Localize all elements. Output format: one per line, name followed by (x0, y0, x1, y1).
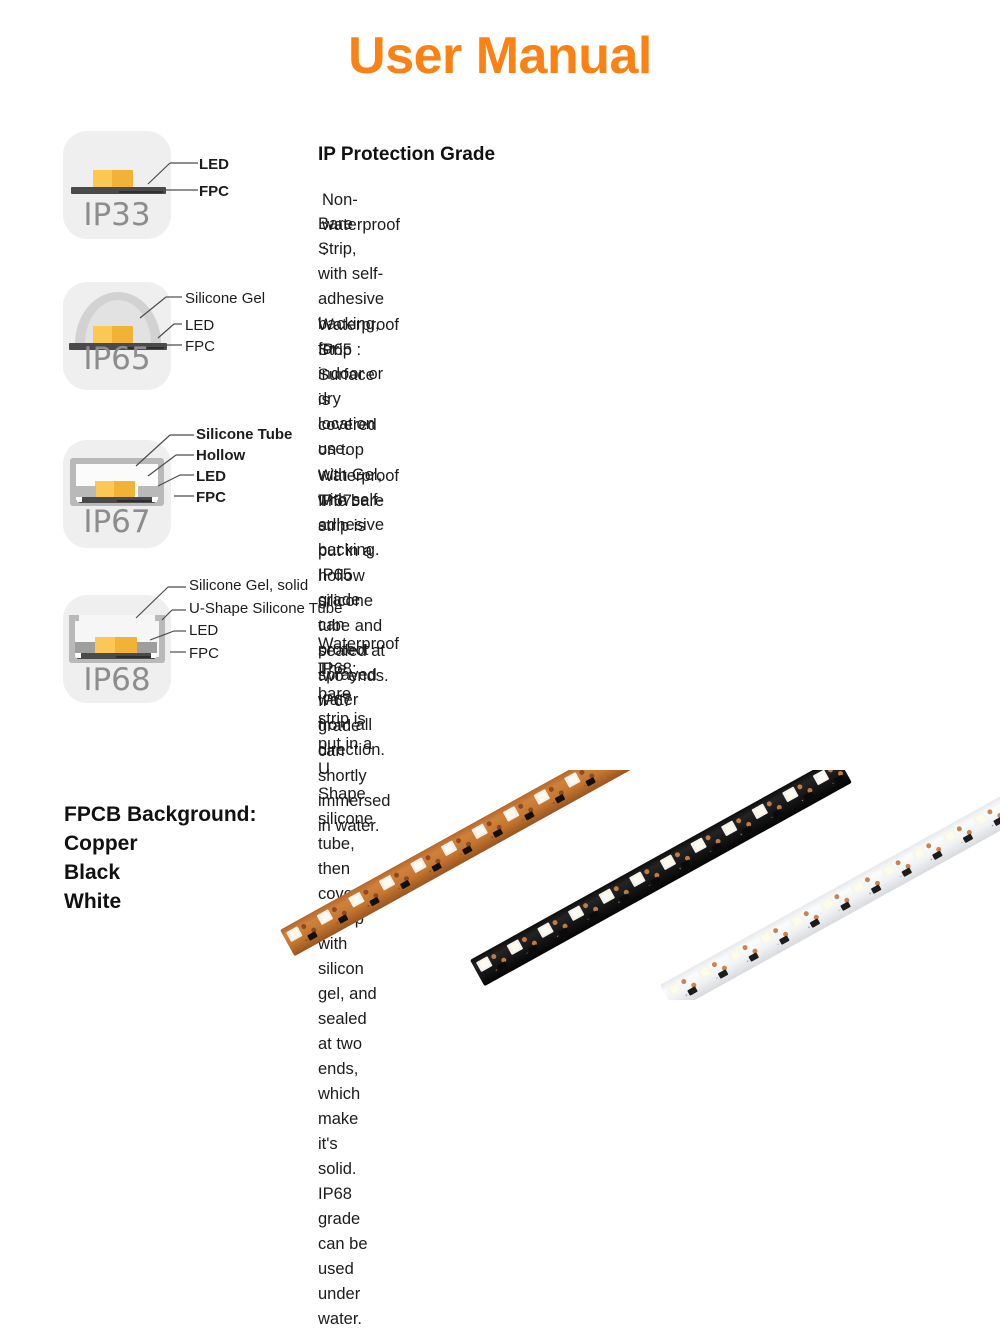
solder-pad (674, 851, 681, 858)
fpcb-option-copper: Copper (64, 829, 257, 858)
resistor (524, 811, 535, 821)
solder-pad (895, 859, 902, 866)
led-phosphor (413, 860, 423, 870)
solder-pad (582, 902, 589, 909)
resistor (528, 944, 539, 954)
solder-pad (424, 855, 431, 862)
resistor (307, 931, 318, 941)
led-chip (317, 909, 334, 925)
led-chip (564, 772, 581, 788)
ip68-callout-u-shape-silicone-tube: U-Shape Silicone Tube (189, 601, 342, 616)
solder-pad (742, 944, 749, 951)
led-chip (788, 913, 805, 929)
led-chip (666, 981, 683, 997)
ip33-code-label: IP33 (63, 197, 171, 233)
section-heading-ip-protection-grade: IP Protection Grade (318, 144, 495, 166)
ip68-callout-led: LED (189, 623, 218, 638)
led-chip (690, 837, 707, 853)
led-phosphor (351, 895, 361, 905)
resistor (748, 952, 759, 962)
resistor (773, 808, 784, 818)
led-strip-white: +−+−+−+−+−+− (660, 781, 1000, 1000)
ip68-tube-end-left (75, 642, 95, 653)
led-chip (595, 770, 612, 771)
solder-pad (490, 953, 497, 960)
led-phosphor (382, 878, 392, 888)
led-chip (782, 786, 799, 802)
resistor (840, 901, 851, 911)
led-chip (751, 803, 768, 819)
led-phosphor (914, 848, 924, 858)
ip68-tube-lip-left (69, 615, 79, 621)
led-phosphor (700, 967, 710, 977)
resistor (810, 918, 821, 928)
solder-pad (486, 820, 493, 827)
led-phosphor (883, 865, 893, 875)
solder-pad (987, 808, 994, 815)
resistor (497, 961, 508, 971)
polarity-mark: + (366, 904, 370, 909)
led-phosphor (761, 933, 771, 943)
led-chip (819, 896, 836, 912)
ip67-leader-lines (118, 428, 208, 508)
ip33-callout-led: LED (199, 157, 229, 172)
led-chip (972, 811, 989, 827)
led-chip (758, 930, 775, 946)
resistor (431, 863, 442, 873)
ip67-seal-left (77, 497, 82, 502)
led-strip-copper: +−+−+−+−+−+−+ (280, 770, 697, 956)
solder-pad (705, 834, 712, 841)
led-chip (598, 888, 615, 904)
solder-pad (548, 786, 555, 793)
polarity-mark: − (521, 818, 525, 823)
solder-pad (643, 868, 650, 875)
led-phosphor (632, 874, 642, 884)
led-chip (441, 840, 458, 856)
solder-pad (956, 825, 963, 832)
led-phosphor (693, 840, 703, 850)
led-chip (941, 828, 958, 844)
led-chip (476, 956, 493, 972)
led-phosphor (755, 806, 765, 816)
led-phosphor (479, 959, 489, 969)
ip33-callout-fpc: FPC (199, 184, 229, 199)
solder-pad (797, 783, 804, 790)
led-chip (880, 862, 897, 878)
solder-pad (803, 910, 810, 917)
fpcb-option-black: Black (64, 858, 257, 887)
led-chip (629, 871, 646, 887)
led-chip (537, 922, 554, 938)
led-chip (533, 789, 550, 805)
led-chip (507, 939, 524, 955)
resistor (586, 777, 597, 787)
led-phosphor (785, 789, 795, 799)
polarity-mark: − (459, 852, 463, 857)
solder-pad (925, 842, 932, 849)
led-chip (813, 770, 830, 785)
resistor (803, 792, 814, 802)
resistor (338, 914, 349, 924)
led-chip (472, 823, 489, 839)
led-chip (348, 892, 365, 908)
led-phosphor (602, 891, 612, 901)
led-phosphor (289, 929, 299, 939)
led-phosphor (320, 912, 330, 922)
ip65-leader-lines (118, 290, 188, 360)
ip67-callout-led: LED (196, 469, 226, 484)
ip67-tube-end-left (76, 486, 96, 497)
resistor (555, 794, 566, 804)
led-chip (697, 964, 714, 980)
resistor (718, 969, 729, 979)
ip68-callout-fpc: FPC (189, 646, 219, 661)
resistor (993, 817, 1000, 827)
solder-pad (772, 927, 779, 934)
solder-pad (827, 770, 834, 773)
ip68-callout-silicone-gel-solid: Silicone Gel, solid (189, 578, 308, 593)
resistor (932, 850, 943, 860)
ip67-callout-fpc: FPC (196, 490, 226, 505)
ip65-callout-fpc: FPC (185, 339, 215, 354)
led-phosphor (444, 843, 454, 853)
solder-pad (864, 876, 871, 883)
led-phosphor (537, 792, 547, 802)
resistor (493, 828, 504, 838)
led-phosphor (571, 908, 581, 918)
led-phosphor (663, 857, 673, 867)
ip67-callout-silicone-tube: Silicone Tube (196, 427, 292, 442)
ip65-callout-silicone-gel: Silicone Gel (185, 291, 265, 306)
fpcb-background-block: FPCB Background: Copper Black White (64, 800, 257, 916)
resistor (589, 910, 600, 920)
resistor (711, 842, 722, 852)
ip67-callout-hollow: Hollow (196, 448, 245, 463)
led-chip (410, 858, 427, 874)
solder-pad (735, 817, 742, 824)
led-chip (721, 820, 738, 836)
resistor (400, 880, 411, 890)
led-chip (286, 926, 303, 942)
resistor (650, 876, 661, 886)
led-chip (850, 879, 867, 895)
solder-pad (300, 923, 307, 930)
led-chip (911, 845, 928, 861)
led-chip (568, 905, 585, 921)
led-phosphor (669, 984, 679, 994)
polarity-mark: + (490, 835, 494, 840)
solder-pad (521, 936, 528, 943)
led-chip (379, 875, 396, 891)
solder-pad (517, 803, 524, 810)
led-phosphor (568, 775, 578, 785)
led-phosphor (724, 823, 734, 833)
solder-pad (613, 885, 620, 892)
polarity-mark: + (614, 770, 618, 771)
resistor (681, 859, 692, 869)
ip65-callout-led: LED (185, 318, 214, 333)
polarity-mark: + (428, 869, 432, 874)
ip33-leader-lines (118, 150, 202, 196)
solder-pad (766, 800, 773, 807)
solder-pad (579, 770, 586, 776)
solder-pad (680, 978, 687, 985)
resistor (834, 775, 845, 785)
solder-pad (393, 872, 400, 879)
resistor (742, 825, 753, 835)
resistor (779, 935, 790, 945)
resistor (369, 897, 380, 907)
led-phosphor (945, 831, 955, 841)
led-chip (727, 947, 744, 963)
led-phosphor (510, 942, 520, 952)
led-phosphor (475, 826, 485, 836)
solder-pad (362, 889, 369, 896)
solder-pad (455, 837, 462, 844)
solder-pad (711, 961, 718, 968)
led-phosphor (792, 916, 802, 926)
led-phosphor (506, 809, 516, 819)
led-chip (503, 806, 520, 822)
solder-pad (331, 906, 338, 913)
resistor (558, 927, 569, 937)
resistor (901, 867, 912, 877)
resistor (462, 845, 473, 855)
solder-pad (552, 919, 559, 926)
led-phosphor (540, 925, 550, 935)
led-phosphor (853, 882, 863, 892)
led-phosphor (822, 899, 832, 909)
resistor (871, 884, 882, 894)
led-phosphor (730, 950, 740, 960)
led-strip-photos: +−+−+−+−+−+−+ +−+−+−+−+−+− +−+−+−+−+−+− (270, 770, 1000, 1000)
led-chip (660, 854, 677, 870)
ip68-seal-left (76, 653, 81, 658)
led-phosphor (975, 814, 985, 824)
fpcb-heading: FPCB Background: (64, 800, 257, 829)
resistor (620, 893, 631, 903)
led-phosphor (816, 772, 826, 782)
resistor (963, 833, 974, 843)
solder-pad (833, 893, 840, 900)
resistor (687, 986, 698, 996)
ip67-code-label: IP67 (63, 504, 171, 540)
fpcb-option-white: White (64, 887, 257, 916)
page-title: User Manual (0, 26, 1000, 86)
